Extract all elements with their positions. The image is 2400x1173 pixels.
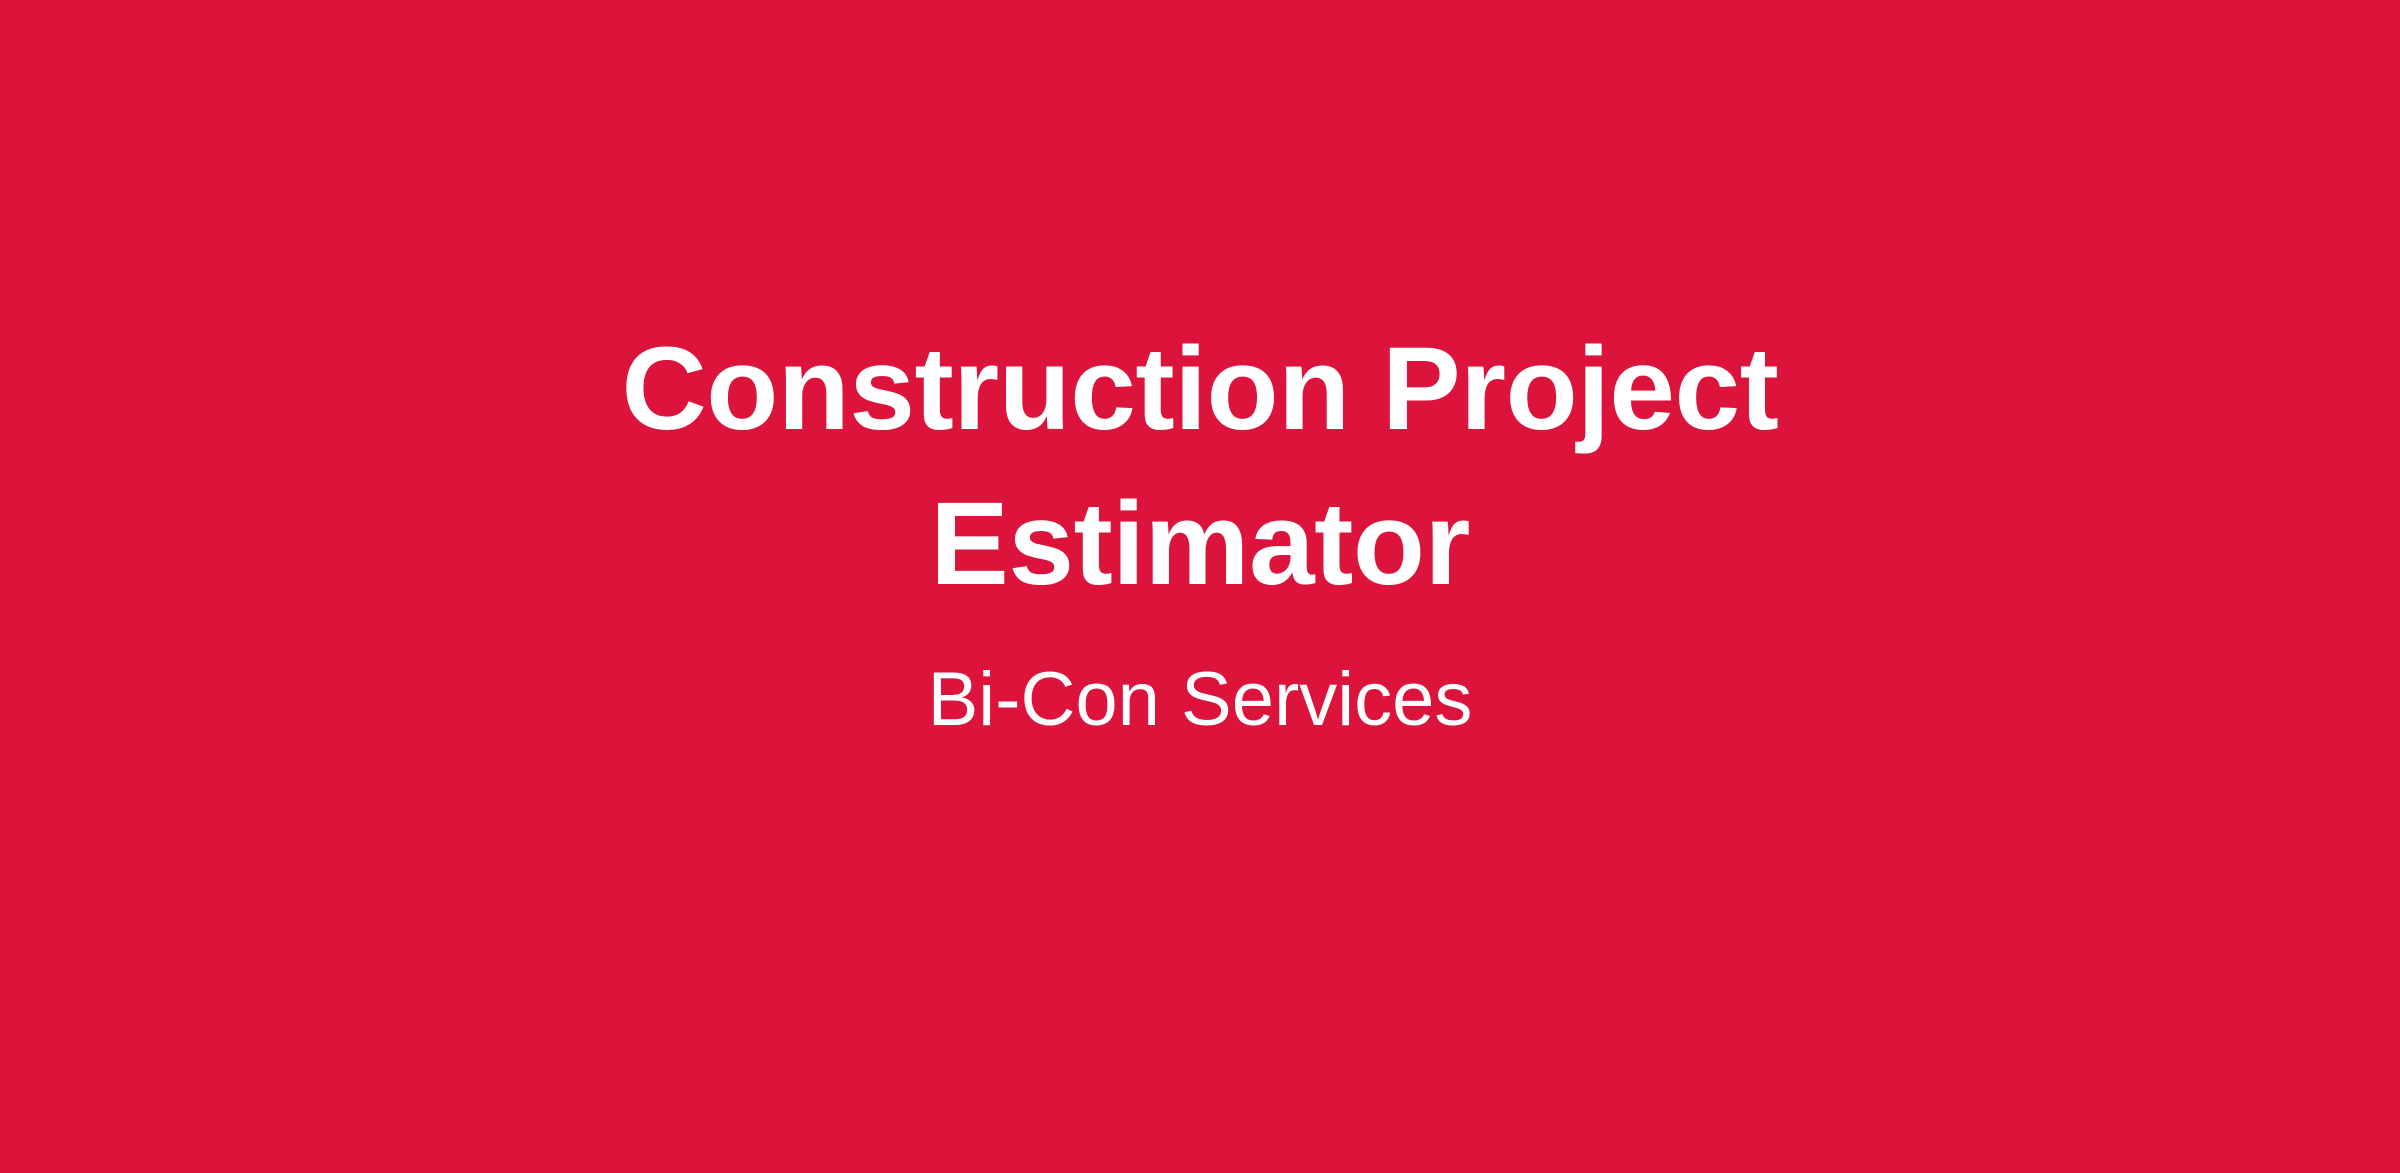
page-title: Construction Project Estimator <box>580 312 1820 622</box>
hero-text-block: Construction Project Estimator Bi-Con Se… <box>580 312 1820 744</box>
page-subtitle: Bi-Con Services <box>928 656 1473 744</box>
title-card: Construction Project Estimator Bi-Con Se… <box>0 0 2400 1173</box>
